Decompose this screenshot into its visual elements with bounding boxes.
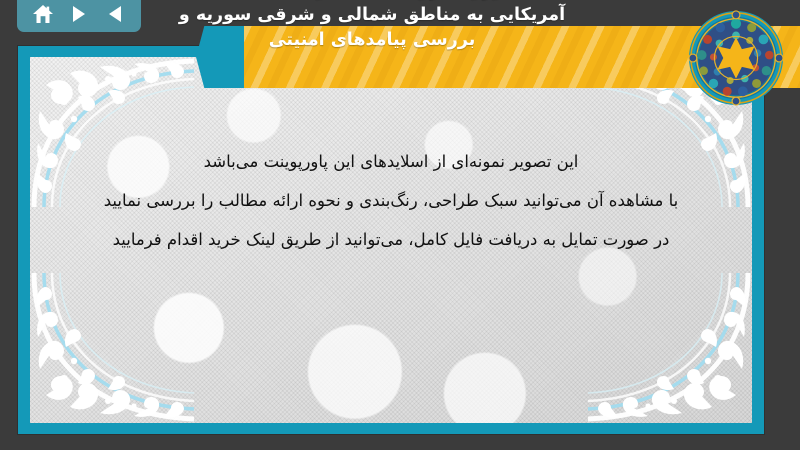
back-button[interactable] (100, 1, 130, 27)
forward-button[interactable] (64, 1, 94, 27)
navigation-toolbar (17, 0, 141, 32)
home-icon (32, 4, 54, 24)
triangle-right-icon (70, 4, 88, 24)
slide-body-text: این تصویر نمونه‌ای از اسلایدهای این پاور… (72, 142, 710, 259)
banner-arrow-tab (196, 26, 248, 88)
body-line-2: با مشاهده آن می‌توانید سبک طراحی، رنگ‌بن… (72, 181, 710, 220)
triangle-left-icon (106, 4, 124, 24)
slide-canvas: این تصویر نمونه‌ای از اسلایدهای این پاور… (18, 46, 764, 434)
body-line-3: در صورت تمایل به دریافت فایل کامل، می‌تو… (72, 220, 710, 259)
body-line-1: این تصویر نمونه‌ای از اسلایدهای این پاور… (72, 142, 710, 181)
slide-viewer: این تصویر نمونه‌ای از اسلایدهای این پاور… (0, 0, 800, 450)
persian-medallion-ornament-icon (687, 9, 785, 107)
home-button[interactable] (28, 1, 58, 27)
